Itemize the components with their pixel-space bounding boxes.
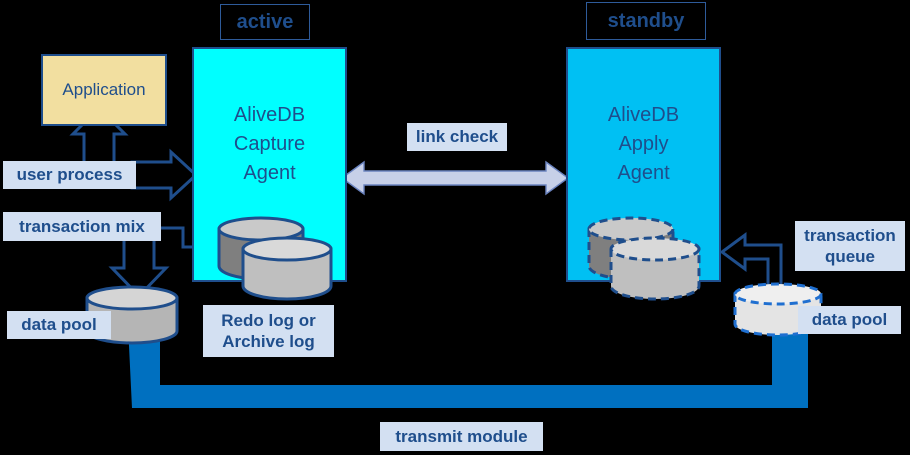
label-data-pool-left[interactable]: data pool [7,311,111,339]
apply-agent-label: AliveDB Apply Agent [608,101,679,188]
diagram-canvas: active standby AliveDB Capture Agent Ali… [0,0,910,455]
zone-tag-standby: standby [586,2,706,40]
application-label: Application [62,80,145,100]
label-link-check[interactable]: link check [407,123,507,151]
user-process-to-capture-arrow [132,152,196,198]
label-transaction-queue[interactable]: transaction queue [795,221,905,271]
capture-agent-label: AliveDB Capture Agent [234,101,305,188]
cylinder-queue-front [608,235,702,303]
label-user-process[interactable]: user process [3,161,136,189]
label-redo-log[interactable]: Redo log or Archive log [203,305,334,357]
label-transmit-module[interactable]: transmit module [380,422,543,451]
zone-tag-active: active [220,4,310,40]
label-data-pool-right[interactable]: data pool [798,306,901,334]
cylinder-redo-log-front [240,235,334,303]
link-check-arrow [342,162,568,194]
label-transaction-mix[interactable]: transaction mix [3,212,161,241]
application-box[interactable]: Application [41,54,167,126]
